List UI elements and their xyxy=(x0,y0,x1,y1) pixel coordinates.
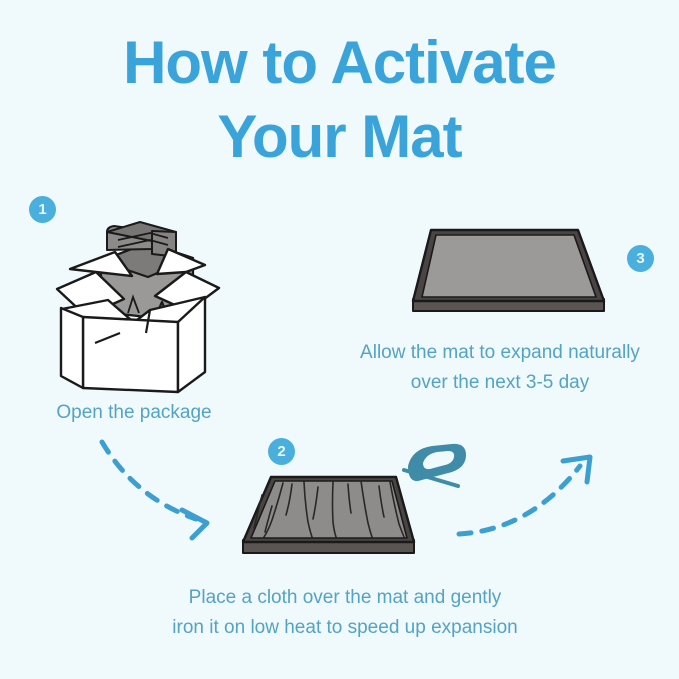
step-3-badge: 3 xyxy=(627,245,654,272)
title-line-1: How to Activate xyxy=(0,26,679,100)
step-1-caption: Open the package xyxy=(0,398,268,428)
step-2-badge: 2 xyxy=(268,438,295,465)
dashed-arrow-up-right-icon xyxy=(459,457,590,534)
step-3-caption: Allow the mat to expand naturally over t… xyxy=(320,338,679,398)
step-3-caption-line-2: over the next 3-5 day xyxy=(320,368,679,398)
flat-mat-icon xyxy=(413,230,604,311)
step-2-caption: Place a cloth over the mat and gently ir… xyxy=(120,583,570,643)
cardboard-box-icon xyxy=(57,222,219,392)
step-2-caption-line-1: Place a cloth over the mat and gently xyxy=(120,583,570,613)
rolled-mat-icon xyxy=(101,222,193,318)
infographic-canvas: How to Activate Your Mat xyxy=(0,0,679,679)
iron-icon xyxy=(404,444,466,486)
cloth-over-mat-icon xyxy=(243,477,414,553)
step-3-caption-line-1: Allow the mat to expand naturally xyxy=(320,338,679,368)
step-2-caption-line-2: iron it on low heat to speed up expansio… xyxy=(120,613,570,643)
title-line-2: Your Mat xyxy=(0,100,679,174)
step-1-badge: 1 xyxy=(29,196,56,223)
dashed-arrow-down-right-icon xyxy=(102,442,207,538)
step-1-caption-line-1: Open the package xyxy=(0,398,268,428)
page-title: How to Activate Your Mat xyxy=(0,26,679,174)
